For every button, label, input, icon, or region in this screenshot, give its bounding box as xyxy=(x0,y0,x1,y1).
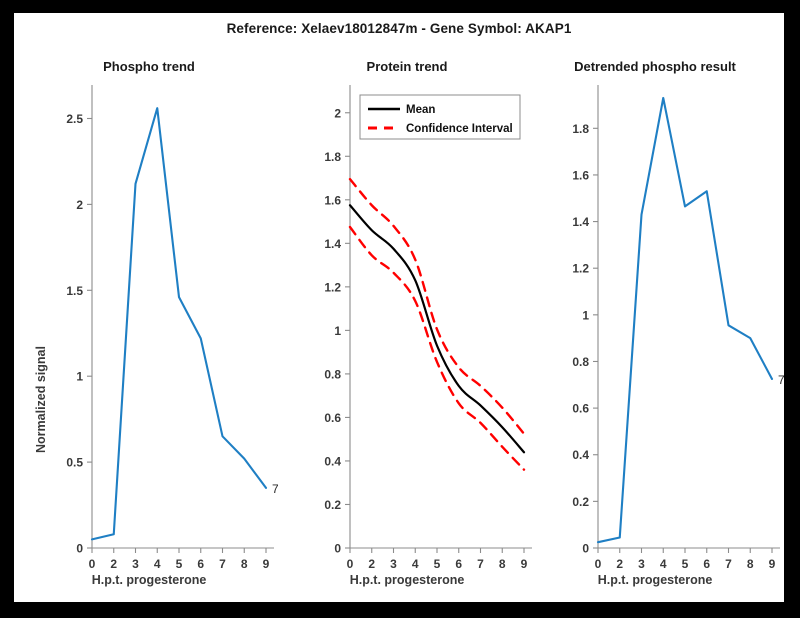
x-tick-label: 6 xyxy=(197,557,204,571)
plot-area-phospho-trend: 00.511.522.5023456789712 xyxy=(20,53,278,593)
y-tick-label: 1.4 xyxy=(572,215,589,229)
y-tick-label: 1.6 xyxy=(324,193,341,207)
x-tick-label: 3 xyxy=(638,557,645,571)
panel-detrended-phospho-result: Detrended phospho result 00.20.40.60.811… xyxy=(526,53,784,593)
x-tick-label: 7 xyxy=(725,557,732,571)
x-tick-label: 8 xyxy=(499,557,506,571)
y-tick-label: 1.2 xyxy=(572,262,589,276)
y-tick-label: 0.2 xyxy=(324,498,341,512)
y-tick-label: 1.8 xyxy=(324,150,341,164)
x-tick-label: 4 xyxy=(154,557,161,571)
series-end-label: 712 xyxy=(778,373,784,387)
series-line xyxy=(92,108,266,539)
x-tick-label: 0 xyxy=(347,557,354,571)
x-tick-label: 7 xyxy=(477,557,484,571)
x-tick-label: 5 xyxy=(434,557,441,571)
y-tick-label: 1 xyxy=(76,370,83,384)
x-axis-label: H.p.t. progesterone xyxy=(278,573,536,587)
x-tick-label: 3 xyxy=(390,557,397,571)
y-tick-label: 0 xyxy=(334,542,341,556)
x-tick-label: 4 xyxy=(412,557,419,571)
x-tick-label: 4 xyxy=(660,557,667,571)
y-tick-label: 1.4 xyxy=(324,237,341,251)
y-tick-label: 0.6 xyxy=(572,402,589,416)
y-tick-label: 1.6 xyxy=(572,168,589,182)
x-tick-label: 7 xyxy=(219,557,226,571)
x-tick-label: 5 xyxy=(682,557,689,571)
y-tick-label: 2 xyxy=(334,106,341,120)
series-line xyxy=(598,98,772,542)
x-axis-label: H.p.t. progesterone xyxy=(526,573,784,587)
x-axis-label: H.p.t. progesterone xyxy=(20,573,278,587)
y-tick-label: 2 xyxy=(76,198,83,212)
y-tick-label: 1 xyxy=(334,324,341,338)
x-tick-label: 8 xyxy=(747,557,754,571)
figure-canvas: Reference: Xelaev18012847m - Gene Symbol… xyxy=(14,13,784,602)
legend-label: Confidence Interval xyxy=(406,123,513,135)
y-tick-label: 0 xyxy=(76,542,83,556)
figure-title: Reference: Xelaev18012847m - Gene Symbol… xyxy=(14,21,784,36)
series-line xyxy=(350,179,524,434)
y-tick-label: 0.2 xyxy=(572,495,589,509)
x-tick-label: 9 xyxy=(263,557,270,571)
x-tick-label: 6 xyxy=(455,557,462,571)
plot-area-protein-trend: 00.20.40.60.811.21.41.61.82023456789Mean… xyxy=(278,53,536,593)
panel-phospho-trend: Phospho trend Normalized signal 00.511.5… xyxy=(20,53,278,593)
x-tick-label: 9 xyxy=(769,557,776,571)
y-tick-label: 0.8 xyxy=(572,355,589,369)
y-tick-label: 0.4 xyxy=(324,454,341,468)
x-tick-label: 2 xyxy=(110,557,117,571)
y-tick-label: 1.2 xyxy=(324,280,341,294)
x-tick-label: 0 xyxy=(595,557,602,571)
y-tick-label: 2.5 xyxy=(66,112,83,126)
y-tick-label: 0.4 xyxy=(572,448,589,462)
y-tick-label: 1.5 xyxy=(66,284,83,298)
x-tick-label: 3 xyxy=(132,557,139,571)
y-tick-label: 1 xyxy=(582,308,589,322)
legend-label: Mean xyxy=(406,104,435,116)
x-tick-label: 5 xyxy=(176,557,183,571)
x-tick-label: 2 xyxy=(368,557,375,571)
x-tick-label: 6 xyxy=(703,557,710,571)
y-tick-label: 0.6 xyxy=(324,411,341,425)
y-tick-label: 0.8 xyxy=(324,367,341,381)
x-tick-label: 2 xyxy=(616,557,623,571)
y-tick-label: 0.5 xyxy=(66,456,83,470)
plot-area-detrended-phospho-result: 00.20.40.60.811.21.41.61.8023456789712 xyxy=(526,53,784,593)
y-tick-label: 0 xyxy=(582,542,589,556)
x-tick-label: 0 xyxy=(89,557,96,571)
x-tick-label: 8 xyxy=(241,557,248,571)
y-tick-label: 1.8 xyxy=(572,122,589,136)
panel-protein-trend: Protein trend 00.20.40.60.811.21.41.61.8… xyxy=(278,53,536,593)
